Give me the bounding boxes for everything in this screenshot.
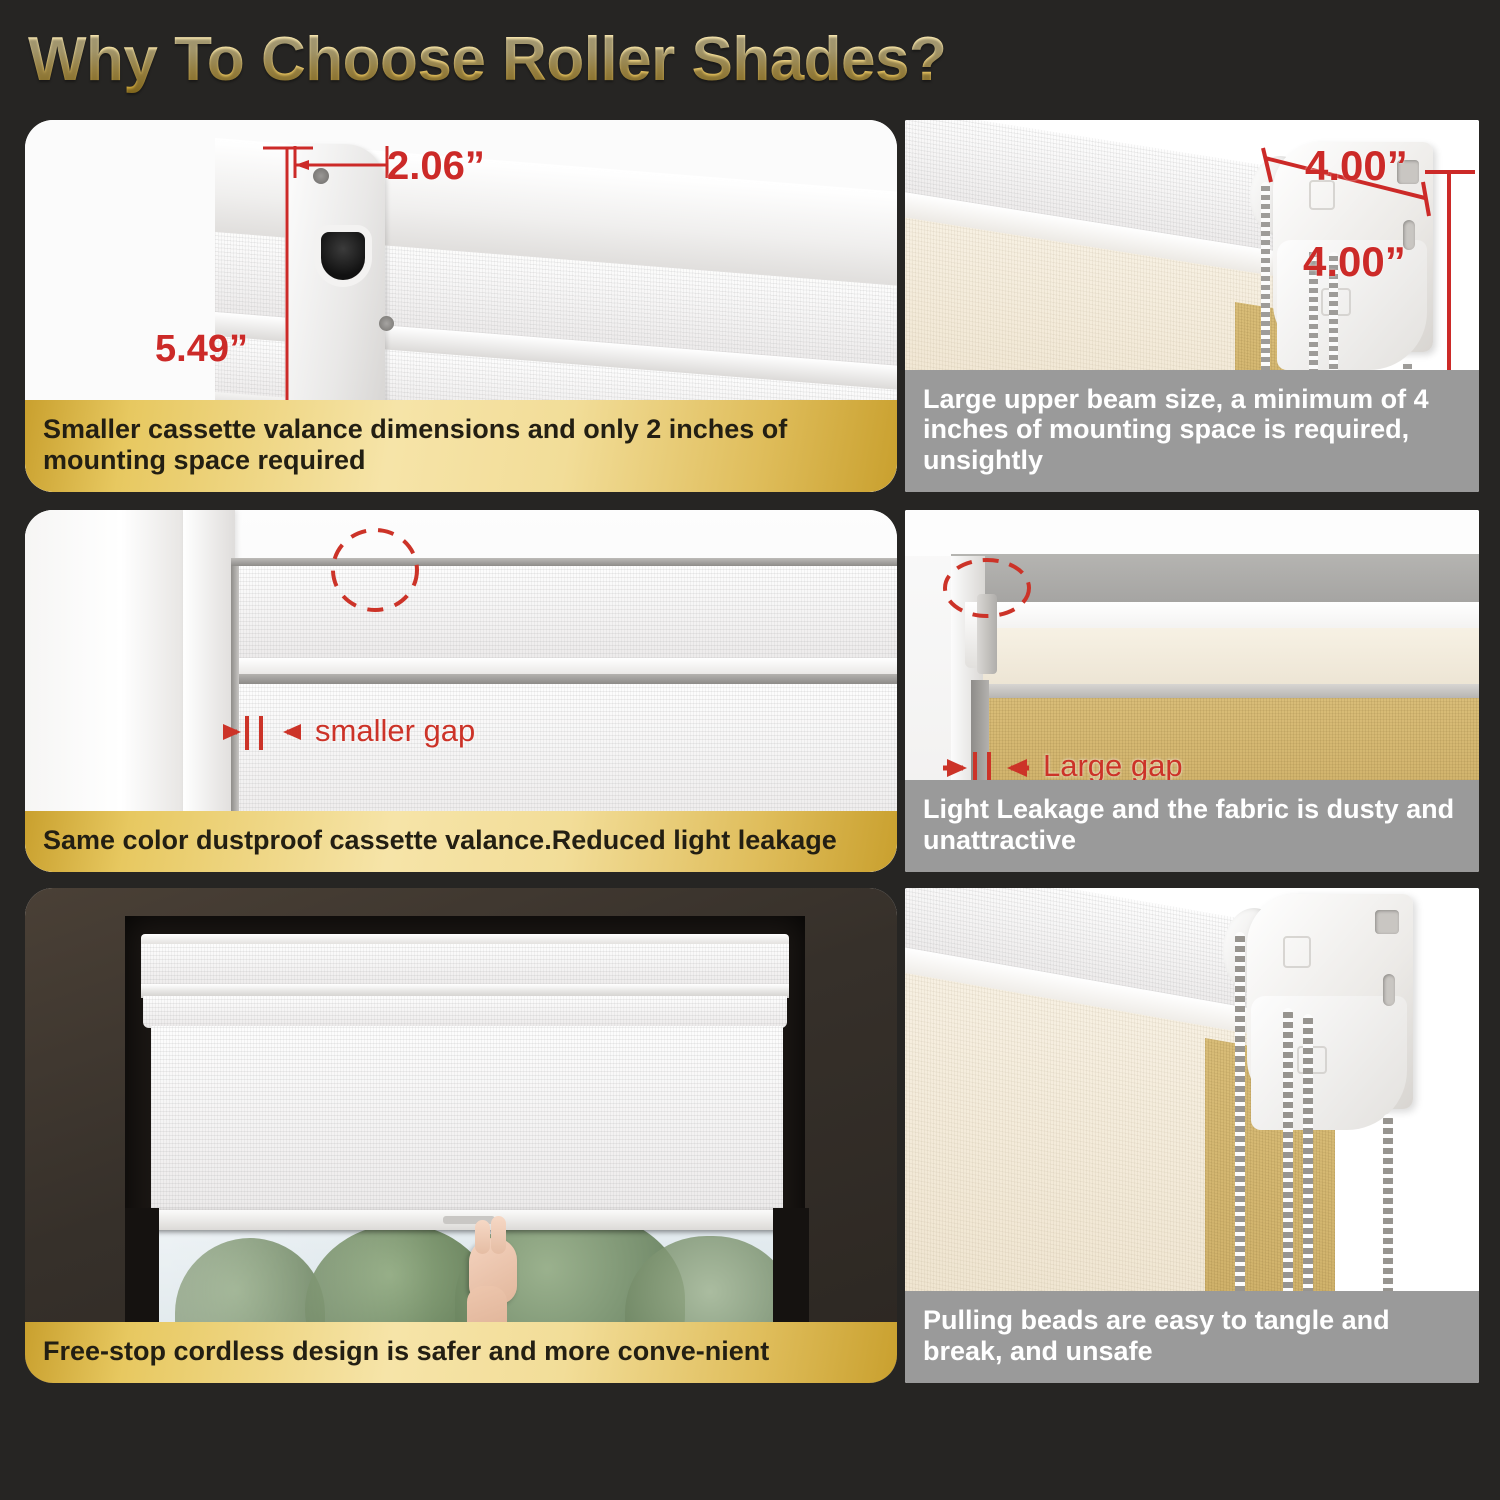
dimension-label-width: 4.00”: [1305, 142, 1408, 190]
panel-large-upper-beam: 4.00” 4.00” Large upper beam size, a min…: [905, 120, 1479, 492]
panel-pulling-beads: Pulling beads are easy to tangle and bre…: [905, 888, 1479, 1383]
dimension-label-height: 5.49”: [155, 328, 248, 371]
dimension-label-width: 2.06”: [387, 144, 485, 189]
roller-shade-fabric: [151, 1026, 783, 1216]
page-title: Why To Choose Roller Shades?: [28, 24, 946, 95]
caption-dustproof-valance: Same color dustproof cassette valance.Re…: [25, 811, 897, 872]
dimension-label-height: 4.00”: [1303, 238, 1406, 286]
panel-cassette-dimensions: 2.06” 5.49” Smaller cassette valance dim…: [25, 120, 897, 492]
panel-free-stop-cordless: Free-stop cordless design is safer and m…: [25, 888, 897, 1383]
window-room-photo: [25, 888, 897, 1383]
caption-large-upper-beam: Large upper beam size, a minimum of 4 in…: [905, 370, 1479, 492]
caption-pulling-beads: Pulling beads are easy to tangle and bre…: [905, 1291, 1479, 1383]
panel-dustproof-valance: smaller gap Same color dustproof cassett…: [25, 510, 897, 872]
caption-light-leakage: Light Leakage and the fabric is dusty an…: [905, 780, 1479, 872]
infographic-page: Why To Choose Roller Shades?: [0, 0, 1500, 1500]
caption-cassette-dimensions: Smaller cassette valance dimensions and …: [25, 400, 897, 492]
gap-label-smaller: smaller gap: [315, 713, 475, 749]
caption-free-stop-cordless: Free-stop cordless design is safer and m…: [25, 1322, 897, 1383]
panel-light-leakage: Large gap Light Leakage and the fabric i…: [905, 510, 1479, 872]
gap-label-large: Large gap: [1043, 748, 1183, 784]
